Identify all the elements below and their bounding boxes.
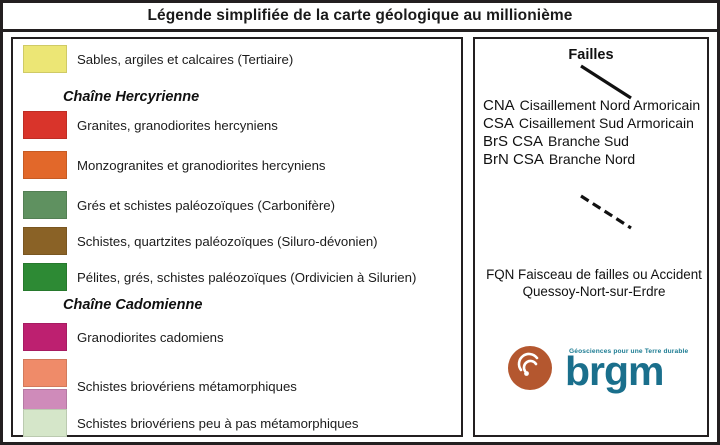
legend-color-swatch (23, 191, 67, 219)
legend-item-label: Granites, granodiorites hercyniens (77, 118, 278, 133)
legend-color-swatch (23, 111, 67, 139)
fault-abbr-row: CNA Cisaillement Nord Armoricain (483, 97, 705, 114)
fault-abbr-row: CSA Cisaillement Sud Armoricain (483, 115, 705, 132)
fault-abbr-text: Branche Sud (548, 133, 629, 149)
legend-item-label: Grés et schistes paléozoïques (Carbonifè… (77, 198, 335, 213)
brgm-wave-circle-icon (507, 345, 553, 391)
legend-item-label: Granodiorites cadomiens (77, 330, 224, 345)
fault-abbr-text: Branche Nord (549, 151, 635, 167)
fault-abbr-code: CSA (483, 115, 514, 132)
legend-color-swatch (23, 263, 67, 291)
fqn-line-1: FQN Faisceau de failles ou Accident (481, 267, 707, 284)
legend-color-swatch (23, 227, 67, 255)
legend-figure: Légende simplifiée de la carte géologiqu… (0, 0, 720, 445)
legend-title-bar: Légende simplifiée de la carte géologiqu… (3, 3, 717, 32)
fault-abbreviation-list: CNA Cisaillement Nord Armoricain CSA Cis… (483, 97, 705, 169)
fault-abbr-row: BrN CSA Branche Nord (483, 151, 705, 168)
brgm-wordmark: brgm (565, 351, 664, 392)
lithology-legend-panel: Sables, argiles et calcaires (Tertiaire)… (11, 37, 463, 437)
legend-item-label: Schistes briovériens métamorphiques (77, 379, 297, 394)
legend-section-heading: Chaîne Cadomienne (63, 297, 202, 313)
dashed-fault-line-icon (575, 191, 645, 240)
legend-color-swatch (23, 151, 67, 179)
legend-section-heading: Chaîne Hercyrienne (63, 89, 199, 105)
legend-item-label: Pélites, grés, schistes paléozoïques (Or… (77, 270, 416, 285)
legend-color-swatch (23, 323, 67, 351)
fault-abbr-text: Cisaillement Nord Armoricain (520, 97, 701, 113)
fault-abbr-text: Cisaillement Sud Armoricain (519, 115, 694, 131)
faults-legend-panel: Failles CNA Cisaillement Nord Armoricain… (473, 37, 709, 437)
page-title: Légende simplifiée de la carte géologiqu… (147, 7, 572, 25)
legend-color-swatch (23, 359, 67, 387)
fault-abbr-code: CNA (483, 97, 515, 114)
fqn-description: FQN Faisceau de failles ou Accident Ques… (481, 267, 707, 301)
legend-item-label: Sables, argiles et calcaires (Tertiaire) (77, 52, 293, 67)
legend-color-swatch (23, 409, 67, 437)
fqn-line-2: Quessoy-Nort-sur-Erdre (481, 284, 707, 301)
legend-item-label: Schistes briovériens peu à pas métamorph… (77, 416, 358, 431)
legend-color-swatch (23, 45, 67, 73)
legend-panels: Sables, argiles et calcaires (Tertiaire)… (3, 32, 717, 442)
legend-item-label: Monzogranites et granodiorites hercynien… (77, 158, 326, 173)
fault-abbr-code: BrS CSA (483, 133, 543, 150)
legend-item-label: Schistes, quartzites paléozoïques (Silur… (77, 234, 378, 249)
brgm-logo: Géosciences pour une Terre durable brgm (507, 339, 707, 409)
fault-abbr-code: BrN CSA (483, 151, 544, 168)
fault-abbr-row: BrS CSA Branche Sud (483, 133, 705, 150)
